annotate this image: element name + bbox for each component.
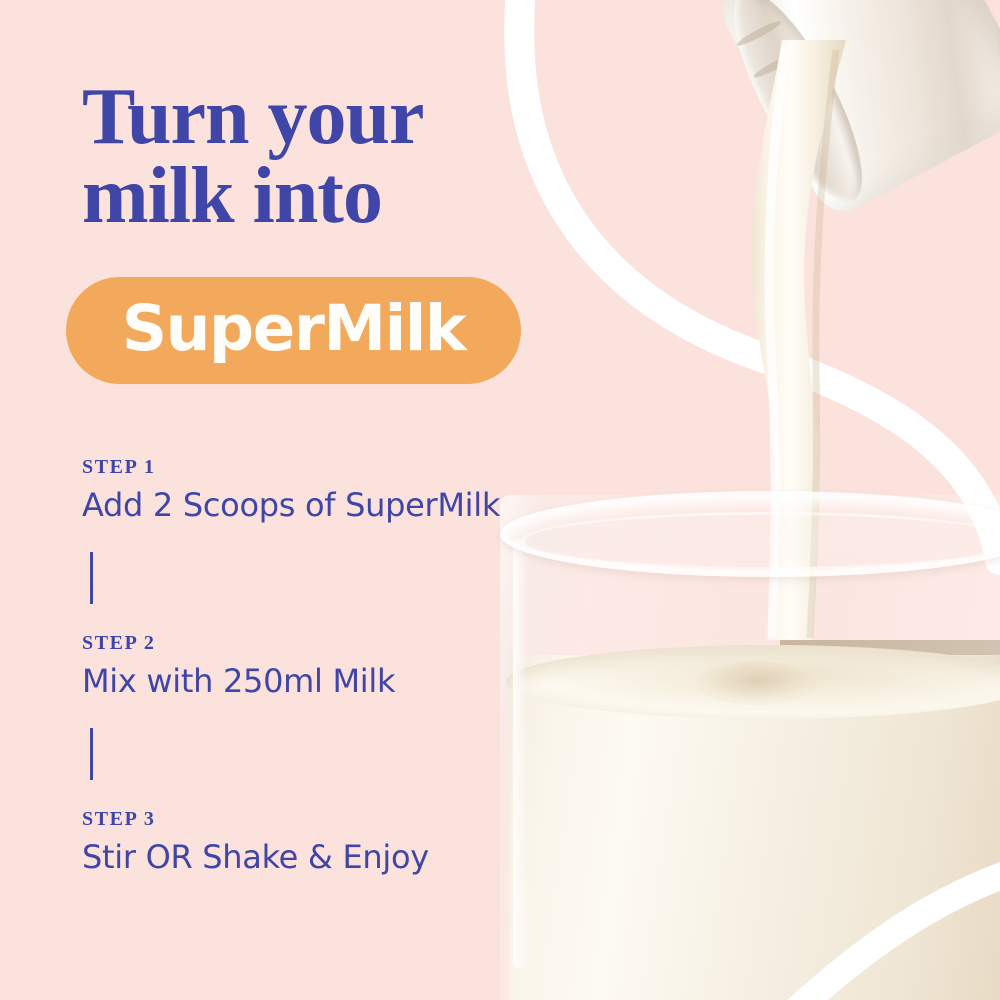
step-divider [90, 728, 93, 780]
step-text: Add 2 Scoops of SuperMilk [82, 487, 552, 524]
step-text: Stir OR Shake & Enjoy [82, 839, 552, 876]
brand-badge: SuperMilk [66, 277, 521, 384]
jar-thread [735, 18, 783, 49]
content-column: Turn your milk into SuperMilk STEP 1 Add… [0, 0, 560, 1000]
step-label: STEP 1 [82, 456, 552, 478]
steps-list: STEP 1 Add 2 Scoops of SuperMilk STEP 2 … [82, 456, 552, 875]
step-item: STEP 1 Add 2 Scoops of SuperMilk [82, 456, 552, 524]
milk-jar [713, 0, 1000, 222]
jar-thread [752, 50, 800, 81]
poster-canvas: Turn your milk into SuperMilk STEP 1 Add… [0, 0, 1000, 1000]
drinking-glass [500, 495, 1000, 1000]
headline-line-1: Turn your [82, 78, 542, 157]
step-item: STEP 2 Mix with 250ml Milk [82, 632, 552, 700]
step-label: STEP 2 [82, 632, 552, 654]
jar-thread [769, 82, 817, 113]
step-divider [90, 552, 93, 604]
headline-line-2: milk into [82, 157, 542, 236]
glass-rim-inner [521, 512, 1000, 570]
page-title: Turn your milk into [82, 78, 542, 236]
step-item: STEP 3 Stir OR Shake & Enjoy [82, 808, 552, 876]
step-text: Mix with 250ml Milk [82, 663, 552, 700]
milk-pour-dimple [696, 661, 816, 705]
step-label: STEP 3 [82, 808, 552, 830]
brand-badge-label: SuperMilk [122, 297, 465, 360]
